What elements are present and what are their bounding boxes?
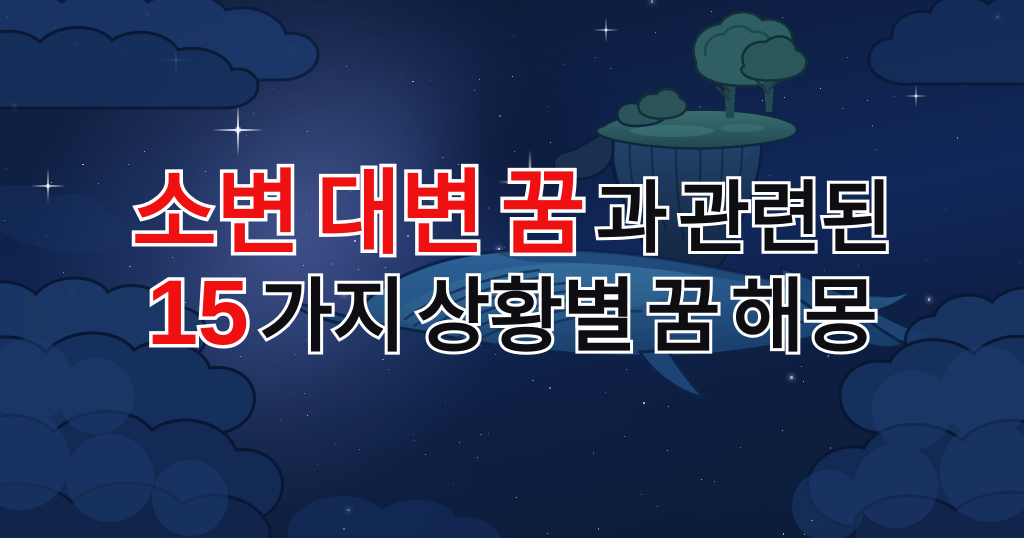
cloud-top-right [869,0,1024,84]
cloud-wisp-left [0,185,127,253]
cloud-top-left [0,0,318,108]
cloud-bottom-center [286,495,502,538]
cloud-bottom-left [0,278,282,538]
flying-whale [288,250,916,398]
thumbnail-canvas: 소변 대변 꿈 과 관련된 15 가지 상황별 꿈 해몽 [0,0,1024,538]
scene-artwork [0,0,1024,538]
island-trees [638,12,806,119]
